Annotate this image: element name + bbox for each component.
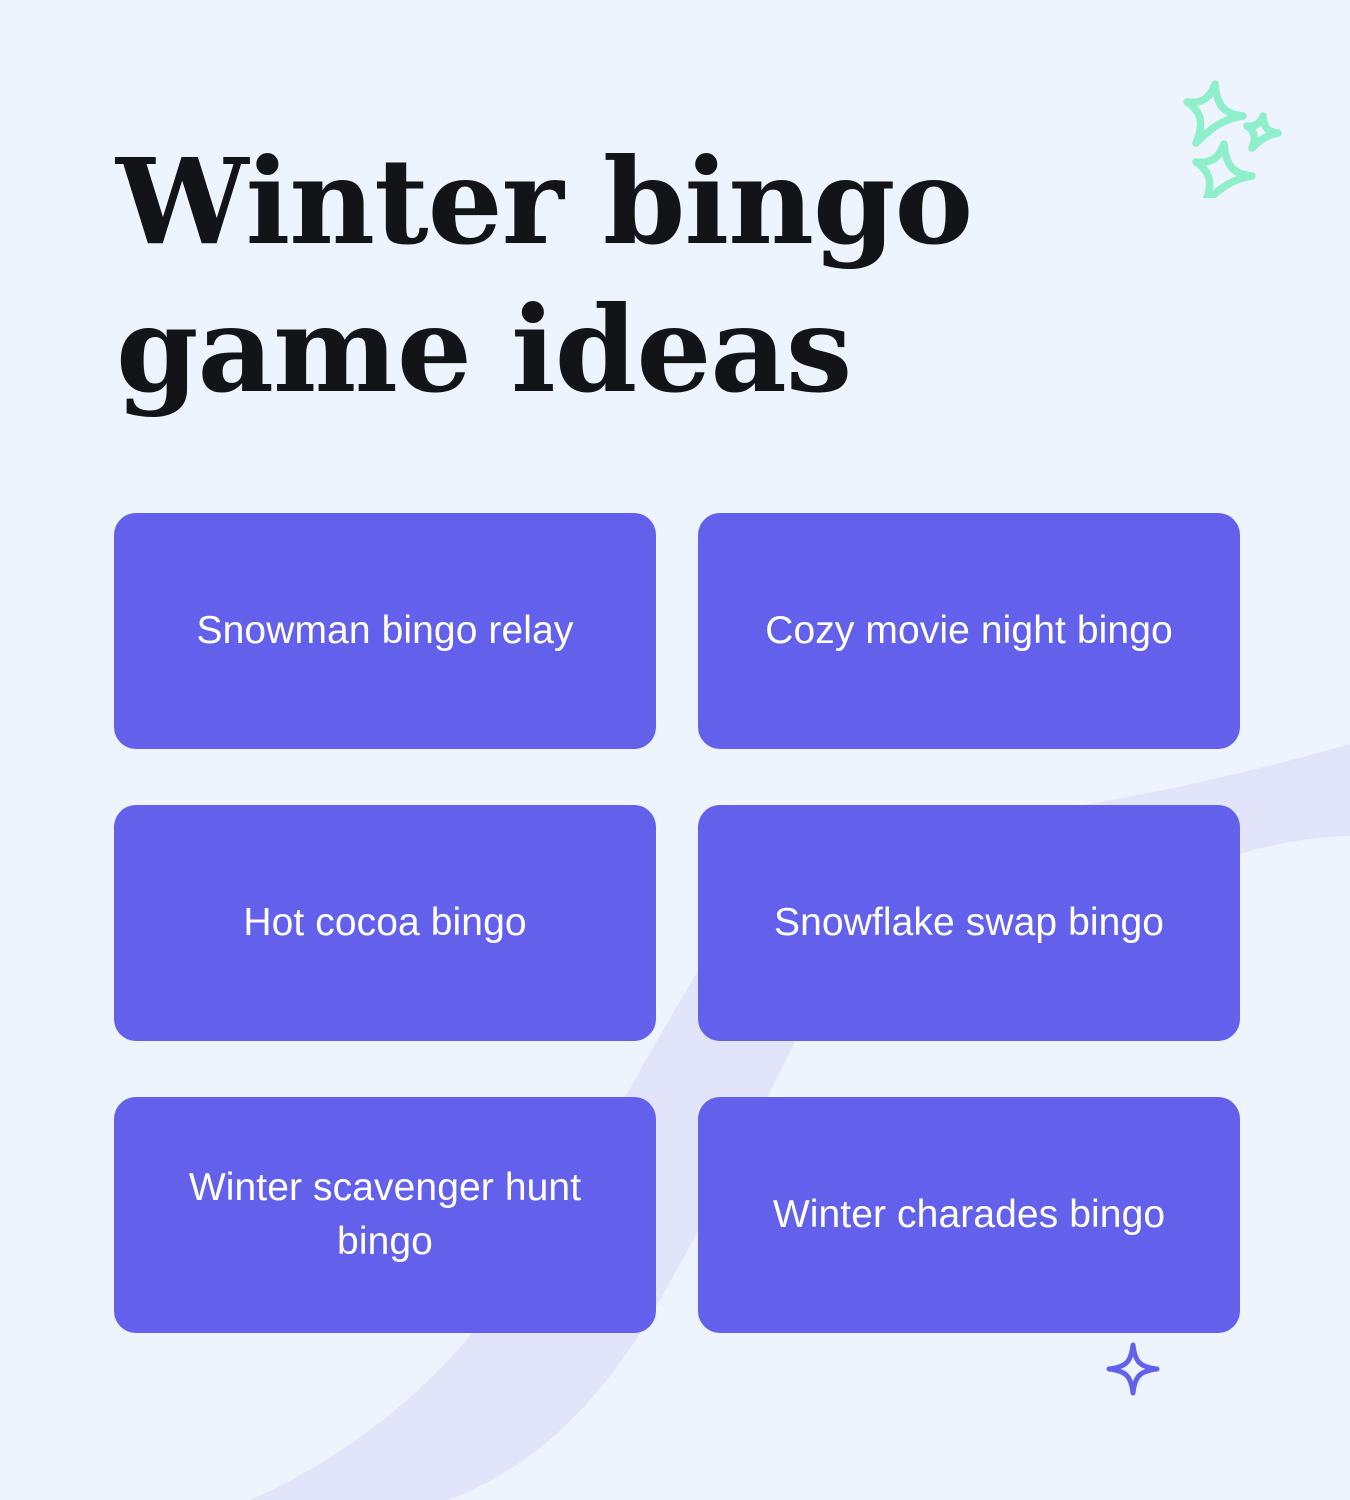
bingo-idea-card-1[interactable]: Snowman bingo relay: [114, 513, 656, 749]
bingo-idea-card-6[interactable]: Winter charades bingo: [698, 1097, 1240, 1333]
bingo-idea-label-4: Snowflake swap bingo: [732, 896, 1206, 950]
bingo-idea-label-2: Cozy movie night bingo: [732, 604, 1206, 658]
sparkle-cluster-icon: [1168, 68, 1288, 198]
bingo-idea-label-1: Snowman bingo relay: [148, 604, 622, 658]
page-title-line-1: Winter bingo: [116, 128, 1016, 276]
bingo-idea-card-2[interactable]: Cozy movie night bingo: [698, 513, 1240, 749]
page-title: Winter bingo game ideas: [116, 128, 1016, 424]
bingo-idea-card-5[interactable]: Winter scavenger hunt bingo: [114, 1097, 656, 1333]
poster-canvas: Winter bingo game ideas Snowman bingo re…: [0, 0, 1350, 1500]
bingo-idea-label-6: Winter charades bingo: [732, 1188, 1206, 1242]
bingo-idea-card-4[interactable]: Snowflake swap bingo: [698, 805, 1240, 1041]
bingo-idea-grid: Snowman bingo relay Cozy movie night bin…: [114, 513, 1240, 1333]
page-title-line-2: game ideas: [116, 276, 1016, 424]
bingo-idea-card-3[interactable]: Hot cocoa bingo: [114, 805, 656, 1041]
sparkle-icon: [1104, 1340, 1162, 1398]
bingo-idea-label-5: Winter scavenger hunt bingo: [148, 1161, 622, 1269]
bingo-idea-label-3: Hot cocoa bingo: [148, 896, 622, 950]
